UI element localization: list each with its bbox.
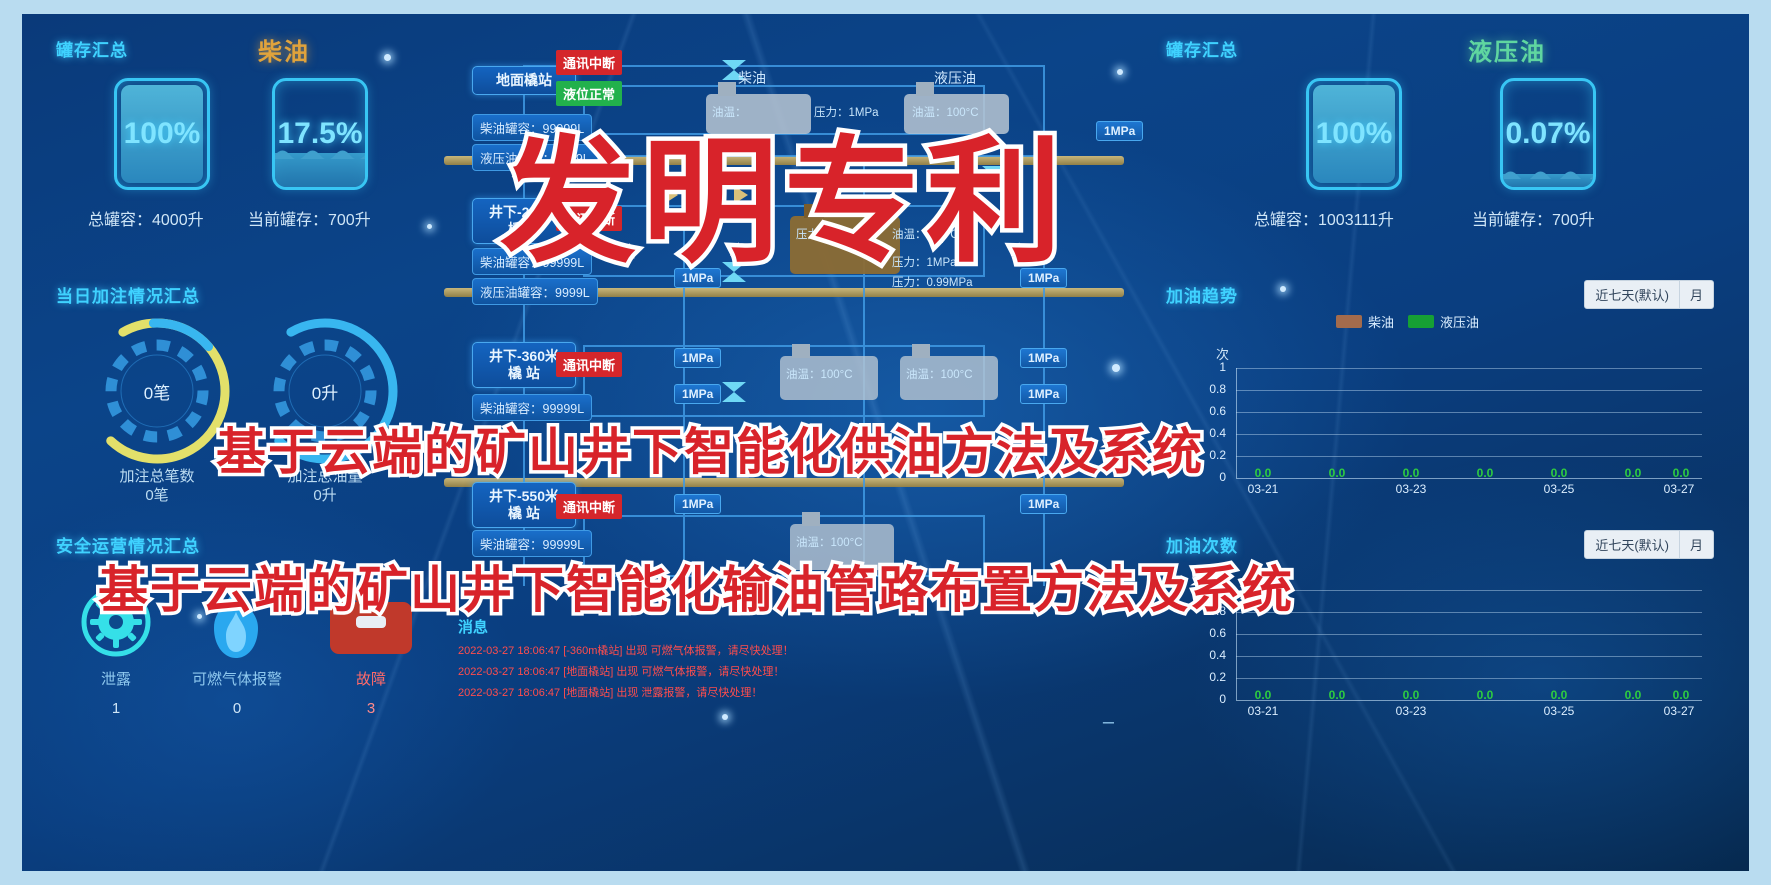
gridline <box>1236 612 1702 613</box>
refuel-count-value: 0笔 <box>82 316 232 466</box>
pressure-tag-7: 1MPa <box>674 494 721 514</box>
tank-fill-level <box>275 153 365 187</box>
safety-label-0: 泄露 <box>80 668 152 689</box>
data-label: 0.0 <box>1544 466 1574 480</box>
total-capacity-label: 总罐容：1003111升 <box>1254 206 1394 230</box>
patent-stamp-watermark: 发明专利 <box>500 92 1068 289</box>
safety-value-0: 1 <box>80 700 152 717</box>
panel-corner <box>1704 22 1734 52</box>
trend-range-month[interactable]: 月 <box>1679 281 1713 308</box>
y-tick: 1 <box>1196 360 1226 374</box>
data-label: 0.0 <box>1248 688 1278 702</box>
fuel-type-heading: 液压油 <box>1468 32 1546 67</box>
left-tank-panel: 罐存汇总 柴油 100% 总罐容：4000升 17.5% 当前罐存：700升 <box>40 26 418 248</box>
pressure-tag-8: 1MPa <box>1020 494 1067 514</box>
x-tick: 03-21 <box>1240 482 1286 496</box>
panel-corner <box>1704 222 1734 252</box>
y-tick: 0.8 <box>1196 382 1226 396</box>
x-tick: 03-23 <box>1388 704 1434 718</box>
data-label: 0.0 <box>1470 466 1500 480</box>
refuel-count-gauge: 0笔 <box>82 316 232 466</box>
data-label: 0.0 <box>1396 466 1426 480</box>
tank-param-7: 油温：100°C <box>786 366 853 382</box>
safety-value-2: 3 <box>326 700 416 717</box>
y-tick: 0.4 <box>1196 648 1226 662</box>
right-tank-panel: 罐存汇总 液压油 100% 总罐容：1003111升 0.07% 当前罐存：70… <box>1150 26 1730 248</box>
message-row: 2022-03-27 18:06:47 [-360m橇站] 出现 可燃气体报警，… <box>458 642 1098 658</box>
count-plot-area: 1 0.8 0.6 0.4 0.2 0 0.0 0.0 0.0 0.0 0.0 … <box>1236 590 1702 700</box>
y-tick: 0.2 <box>1196 670 1226 684</box>
data-label: 0.0 <box>1666 688 1696 702</box>
tank-label-diesel: 柴油 <box>738 68 766 88</box>
pressure-tag-4: 1MPa <box>1020 348 1067 368</box>
current-stock-label: 当前罐存：700升 <box>1472 206 1595 230</box>
refuel-count-caption: 加注总笔数 0笔 <box>82 468 232 506</box>
current-stock-label: 当前罐存：700升 <box>248 206 371 230</box>
station-3-badge-comm: 通讯中断 <box>556 494 622 519</box>
count-range-month[interactable]: 月 <box>1679 531 1713 558</box>
panel-corner <box>1704 476 1734 506</box>
panel-corner <box>392 222 422 252</box>
current-stock-tank: 0.07% <box>1500 78 1596 190</box>
panel-corner <box>392 722 422 752</box>
panel-corner <box>392 22 422 52</box>
total-capacity-label: 总罐容：4000升 <box>88 206 204 230</box>
legend-label-hydraulic: 液压油 <box>1440 312 1479 331</box>
count-range-week[interactable]: 近七天(默认) <box>1585 531 1679 558</box>
x-tick: 03-27 <box>1656 704 1702 718</box>
gridline <box>1236 390 1702 391</box>
panel-corner <box>392 268 422 298</box>
total-capacity-percent: 100% <box>1316 117 1393 151</box>
fuel-type-heading: 柴油 <box>258 32 310 67</box>
tank-fill-level <box>1503 174 1593 187</box>
x-tick: 03-27 <box>1656 482 1702 496</box>
data-label: 0.0 <box>1248 466 1278 480</box>
gridline <box>1236 656 1702 657</box>
pressure-tag-5: 1MPa <box>674 384 721 404</box>
legend-item-diesel[interactable]: 柴油 <box>1336 312 1394 331</box>
tank-param-8: 油温：100°C <box>906 366 973 382</box>
x-tick: 03-23 <box>1388 482 1434 496</box>
patent-title-watermark-1: 基于云端的矿山井下智能化供油方法及系统 <box>216 412 1204 484</box>
station-0-badge-comm: 通讯中断 <box>556 50 622 75</box>
data-label: 0.0 <box>1666 466 1696 480</box>
decor-spark <box>427 224 432 229</box>
station-2-badge-comm: 通讯中断 <box>556 352 622 377</box>
legend-item-hydraulic[interactable]: 液压油 <box>1408 312 1479 331</box>
trend-legend: 柴油 液压油 <box>1336 312 1479 331</box>
legend-label-diesel: 柴油 <box>1368 312 1394 331</box>
panel-corner <box>1146 222 1176 252</box>
pressure-tag-3: 1MPa <box>674 348 721 368</box>
count-range-selector[interactable]: 近七天(默认) 月 <box>1584 530 1714 559</box>
x-tick: 03-21 <box>1240 704 1286 718</box>
data-label: 0.0 <box>1618 466 1648 480</box>
trend-range-week[interactable]: 近七天(默认) <box>1585 281 1679 308</box>
wave-icon <box>1503 165 1593 179</box>
gridline <box>1236 412 1702 413</box>
gridline <box>1236 590 1702 591</box>
panel-corner <box>36 476 66 506</box>
total-capacity-tank: 100% <box>1306 78 1402 190</box>
x-tick: 03-25 <box>1536 704 1582 718</box>
gridline <box>1236 456 1702 457</box>
current-stock-percent: 17.5% <box>277 117 362 151</box>
y-tick: 0 <box>1196 692 1226 706</box>
y-axis-line <box>1236 368 1237 478</box>
safety-label-1: 可燃气体报警 <box>174 668 300 689</box>
safety-label-2: 故障 <box>326 668 416 689</box>
legend-swatch-hydraulic <box>1408 315 1434 328</box>
safety-value-1: 0 <box>174 700 300 717</box>
current-stock-percent: 0.07% <box>1505 117 1590 151</box>
gridline <box>1236 434 1702 435</box>
panel-title: 加油趋势 <box>1166 282 1238 307</box>
panel-corner <box>392 518 422 548</box>
current-stock-tank: 17.5% <box>272 78 368 190</box>
legend-swatch-diesel <box>1336 315 1362 328</box>
data-label: 0.0 <box>1618 688 1648 702</box>
message-row: 2022-03-27 18:06:47 [地面橇站] 出现 泄露报警，请尽快处理… <box>458 684 1098 700</box>
data-label: 0.0 <box>1470 688 1500 702</box>
refuel-trend-panel: 加油趋势 近七天(默认) 月 柴油 液压油 次 1 <box>1150 272 1730 502</box>
trend-range-selector[interactable]: 近七天(默认) 月 <box>1584 280 1714 309</box>
gridline <box>1236 678 1702 679</box>
data-label: 0.0 <box>1322 466 1352 480</box>
panel-corner <box>36 222 66 252</box>
minimize-icon[interactable]: – <box>1103 711 1114 734</box>
x-tick: 03-25 <box>1536 482 1582 496</box>
dashboard-stage: 罐存汇总 柴油 100% 总罐容：4000升 17.5% 当前罐存：700升 当… <box>22 14 1749 871</box>
pressure-tag-0: 1MPa <box>1096 121 1143 141</box>
tank-label-hydraulic: 液压油 <box>934 68 976 88</box>
refuel-count-caption-text: 加注总笔数 0笔 <box>119 468 194 504</box>
message-row: 2022-03-27 18:06:47 [地面橇站] 出现 可燃气体报警，请尽快… <box>458 663 1098 679</box>
panel-title: 当日加注情况汇总 <box>56 282 200 307</box>
data-label: 0.0 <box>1544 688 1574 702</box>
panel-corner <box>36 722 66 752</box>
data-label: 0.0 <box>1322 688 1352 702</box>
tank-param-9: 油温：100°C <box>796 534 863 550</box>
patent-title-watermark-2: 基于云端的矿山井下智能化输油管路布置方法及系统 <box>98 550 1294 622</box>
total-capacity-tank: 100% <box>114 78 210 190</box>
panel-corner <box>1146 722 1176 752</box>
y-tick: 0.6 <box>1196 626 1226 640</box>
panel-corner <box>1704 722 1734 752</box>
panel-title: 罐存汇总 <box>1166 36 1238 61</box>
pressure-tag-6: 1MPa <box>1020 384 1067 404</box>
gridline <box>1236 368 1702 369</box>
data-label: 0.0 <box>1396 688 1426 702</box>
message-log: 消息 2022-03-27 18:06:47 [-360m橇站] 出现 可燃气体… <box>458 616 1098 700</box>
panel-title: 罐存汇总 <box>56 36 128 61</box>
total-capacity-percent: 100% <box>124 117 201 151</box>
panel-corner <box>430 722 460 752</box>
trend-plot-area: 1 0.8 0.6 0.4 0.2 0 0.0 0.0 0.0 0.0 0.0 … <box>1236 368 1702 478</box>
gridline <box>1236 634 1702 635</box>
